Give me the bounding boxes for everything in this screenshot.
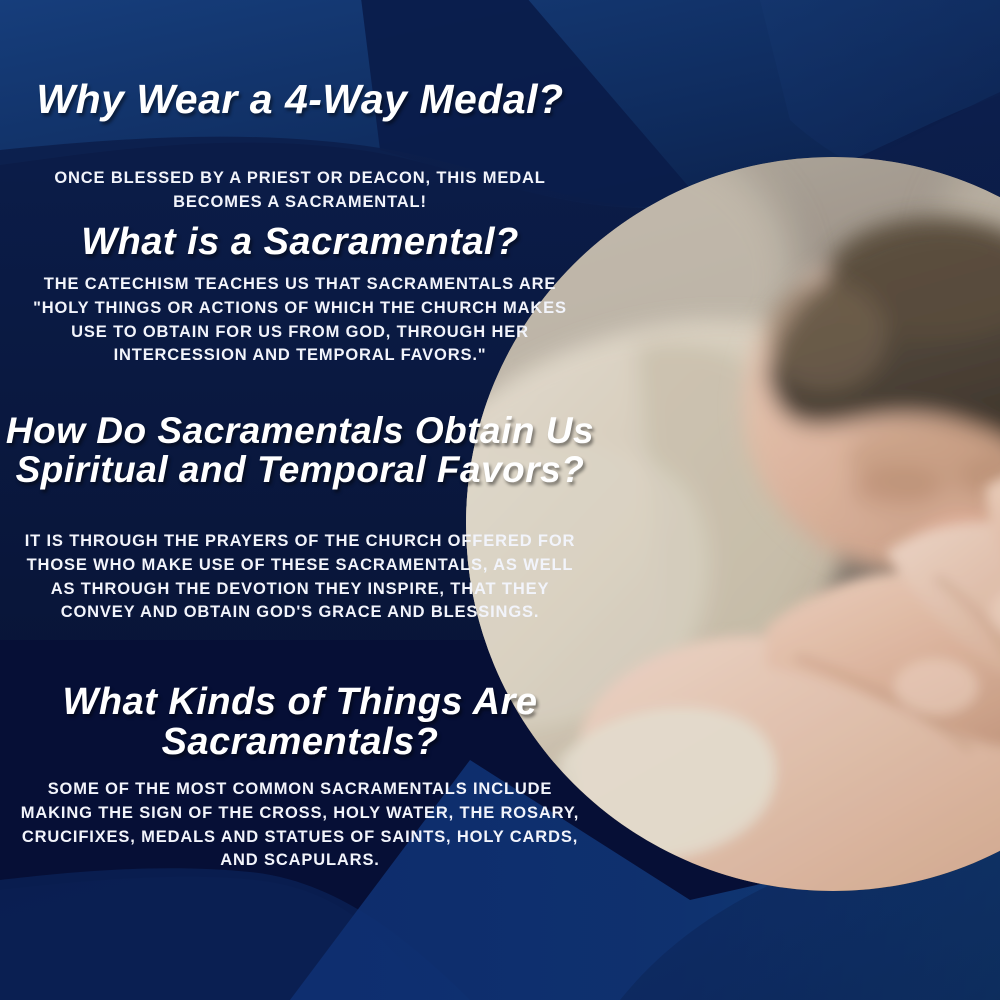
section-4-heading: What Kinds of Things Are Sacramentals? — [0, 682, 600, 763]
section-4-heading-block: What Kinds of Things Are Sacramentals? — [0, 682, 600, 763]
section-3-body-block: IT IS THROUGH THE PRAYERS OF THE CHURCH … — [0, 530, 600, 625]
section-2-body-text: THE CATECHISM TEACHES US THAT SACRAMENTA… — [0, 273, 600, 368]
intro-body-block: ONCE BLESSED BY A PRIEST OR DEACON, THIS… — [0, 167, 600, 215]
section-4-body-text: SOME OF THE MOST COMMON SACRAMENTALS INC… — [0, 778, 600, 873]
section-2-body-block: THE CATECHISM TEACHES US THAT SACRAMENTA… — [0, 273, 600, 368]
text-column: Why Wear a 4-Way Medal? ONCE BLESSED BY … — [0, 0, 600, 1000]
intro-body-text: ONCE BLESSED BY A PRIEST OR DEACON, THIS… — [0, 167, 600, 215]
section-2-heading: What is a Sacramental? — [0, 222, 600, 262]
page-title: Why Wear a 4-Way Medal? — [0, 78, 600, 121]
poster-canvas: Why Wear a 4-Way Medal? ONCE BLESSED BY … — [0, 0, 1000, 1000]
section-4-body-block: SOME OF THE MOST COMMON SACRAMENTALS INC… — [0, 778, 600, 873]
section-3-body-text: IT IS THROUGH THE PRAYERS OF THE CHURCH … — [0, 530, 600, 625]
section-3-heading-block: How Do Sacramentals Obtain Us Spiritual … — [0, 411, 600, 489]
section-title-block: Why Wear a 4-Way Medal? — [0, 78, 600, 121]
section-2-heading-block: What is a Sacramental? — [0, 222, 600, 262]
section-3-heading: How Do Sacramentals Obtain Us Spiritual … — [0, 411, 600, 489]
